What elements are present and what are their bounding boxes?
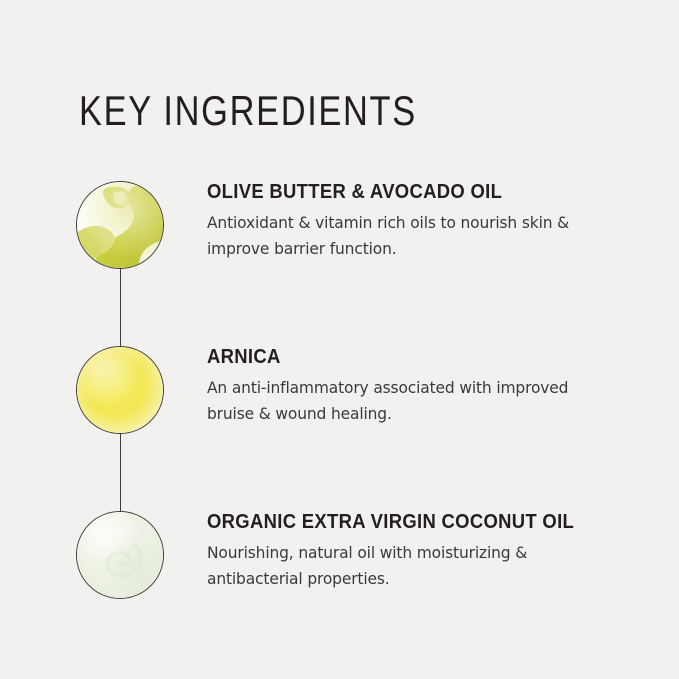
coconut-oil-swatch — [76, 511, 164, 599]
arnica-oil-swatch — [76, 346, 164, 434]
ingredient-text-block: ORGANIC EXTRA VIRGIN COCONUT OIL Nourish… — [207, 511, 637, 592]
ingredient-text-block: ARNICA An anti-inflammatory associated w… — [207, 346, 637, 427]
ingredient-description: An anti-inflammatory associated with imp… — [207, 375, 589, 427]
ingredient-description: Antioxidant & vitamin rich oils to nouri… — [207, 210, 589, 262]
ingredient-name: OLIVE BUTTER & AVOCADO OIL — [207, 181, 594, 203]
olive-avocado-oil-swatch — [76, 181, 164, 269]
page-title: KEY INGREDIENTS — [79, 90, 417, 132]
ingredient-name: ARNICA — [207, 346, 594, 368]
ingredient-description: Nourishing, natural oil with moisturizin… — [207, 540, 589, 592]
ingredient-text-block: OLIVE BUTTER & AVOCADO OIL Antioxidant &… — [207, 181, 637, 262]
key-ingredients-panel: KEY INGREDIENTS — [0, 0, 679, 679]
ingredient-name: ORGANIC EXTRA VIRGIN COCONUT OIL — [207, 511, 594, 533]
